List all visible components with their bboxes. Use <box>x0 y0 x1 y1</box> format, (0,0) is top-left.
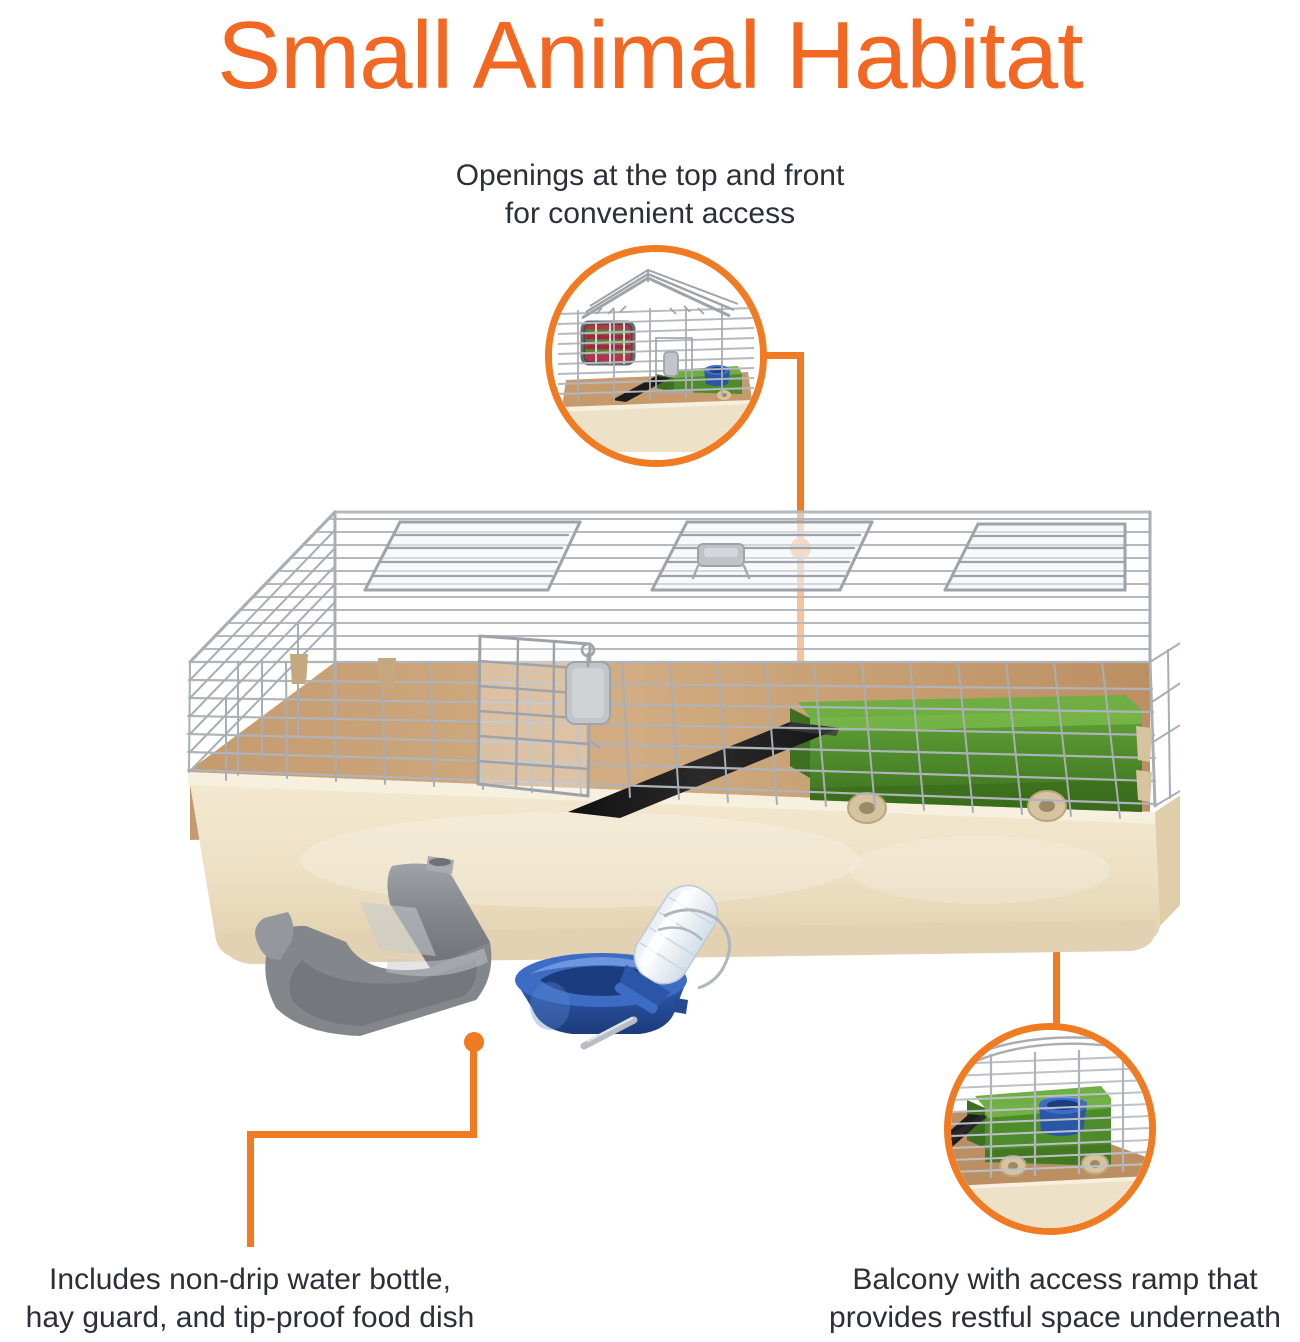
caption-balcony-line-2: provides restful space underneath <box>800 1299 1300 1337</box>
infographic-page: Small Animal Habitat Openings at the top… <box>0 0 1300 1342</box>
hay-guard <box>255 856 491 1036</box>
caption-accessories-line-2: hay guard, and tip-proof food dish <box>0 1299 510 1337</box>
caption-accessories: Includes non-drip water bottle, hay guar… <box>0 1261 510 1337</box>
connector-accessories-vertical-lower <box>247 1131 254 1247</box>
top-door-left <box>365 522 580 590</box>
accessories-svg <box>240 850 760 1065</box>
top-door-far-right <box>945 524 1125 590</box>
caption-top-line-2: for convenient access <box>330 195 970 233</box>
caption-balcony: Balcony with access ramp that provides r… <box>800 1261 1300 1337</box>
balcony-leg <box>1028 791 1066 821</box>
caption-balcony-line-1: Balcony with access ramp that <box>800 1261 1300 1299</box>
top-door-right <box>652 522 872 590</box>
balcony-leg <box>848 793 886 823</box>
connector-accessories-horizontal <box>247 1131 477 1138</box>
callout-balcony-svg <box>951 1030 1149 1228</box>
page-title: Small Animal Habitat <box>0 4 1300 108</box>
caption-top-line-1: Openings at the top and front <box>330 157 970 195</box>
callout-top-image <box>552 252 760 460</box>
callout-balcony-ramp <box>944 1023 1156 1235</box>
caption-top-openings: Openings at the top and front for conven… <box>330 157 970 233</box>
callout-top-svg <box>552 252 760 460</box>
callout-top-openings <box>545 245 767 467</box>
accessories-group <box>240 850 760 1065</box>
caption-accessories-line-1: Includes non-drip water bottle, <box>0 1261 510 1299</box>
callout-balcony-image <box>951 1030 1149 1228</box>
